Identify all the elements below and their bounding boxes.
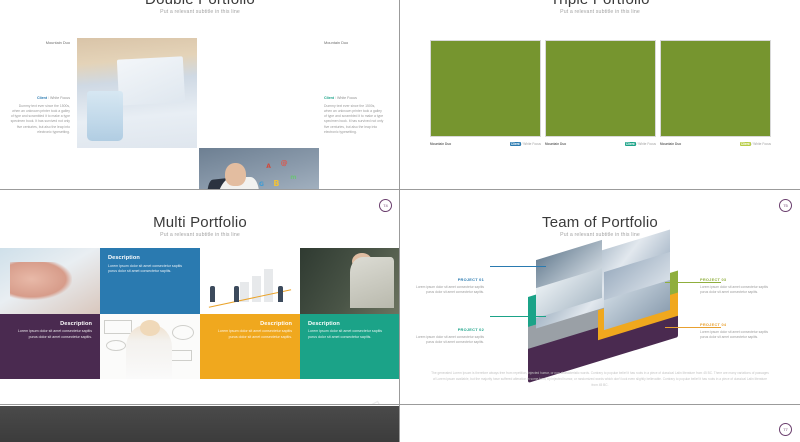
client-line: Client / White Focus bbox=[10, 96, 70, 102]
tile-text-wrap: Description Lorem ipsum dolor sit amet c… bbox=[100, 248, 200, 314]
project-label: PROJECT 03 bbox=[700, 277, 774, 283]
project-body: Lorem ipsum dolor sit amet consectetur s… bbox=[410, 335, 484, 346]
page-number-badge: 77 bbox=[779, 423, 792, 436]
portfolio-box-1[interactable] bbox=[430, 40, 541, 137]
page-subtitle: Put a relevant subtitle in this line bbox=[0, 9, 400, 15]
project-callout-04: PROJECT 04 Lorem ipsum dolor sit amet co… bbox=[700, 322, 774, 340]
bottom-dark-bar bbox=[0, 406, 399, 442]
caption-right-mountain-wrap: Mountain Duo bbox=[324, 40, 384, 46]
tile-body: Lorem ipsum dolor sit amet consectetur s… bbox=[108, 264, 192, 276]
tile-body: Lorem ipsum dolor sit amet consectetur s… bbox=[8, 329, 92, 341]
page-subtitle: Put a relevant subtitle in this line bbox=[0, 232, 400, 238]
letter-glyph: G bbox=[259, 181, 264, 188]
project-callout-03: PROJECT 03 Lorem ipsum dolor sit amet co… bbox=[700, 277, 774, 295]
caption-left-mountain-wrap: Mountain Duo bbox=[10, 40, 70, 46]
portfolio-image-man[interactable]: A @ G B m G O c bbox=[199, 148, 319, 190]
divider-horizontal-2 bbox=[0, 404, 800, 405]
tile-heading: Description bbox=[208, 321, 292, 327]
tile-heading: Description bbox=[8, 321, 92, 327]
slide-triple-portfolio[interactable]: Triple Portfolio Put a relevant subtitle… bbox=[400, 0, 800, 190]
caption-body: Dummy text ever since the 1500s, when an… bbox=[10, 104, 70, 136]
team-heading: Team of Portfolio Put a relevant subtitl… bbox=[400, 214, 800, 238]
page-title: Triple Portfolio bbox=[400, 0, 800, 8]
tile-text-blue[interactable]: Description Lorem ipsum dolor sit amet c… bbox=[100, 248, 200, 314]
caption-right: Client / White Focus Dummy text ever sin… bbox=[324, 96, 384, 135]
client-value: White Focus bbox=[337, 96, 357, 100]
client-line: Client / White Focus bbox=[510, 142, 541, 146]
man-at-desk-photo bbox=[300, 248, 400, 314]
project-label: PROJECT 02 bbox=[410, 327, 484, 333]
caption-left: Client / White Focus Dummy text ever sin… bbox=[10, 96, 70, 135]
page-title: Multi Portfolio bbox=[0, 214, 400, 231]
project-callout-02: PROJECT 02 Lorem ipsum dolor sit amet co… bbox=[410, 327, 484, 345]
tile-text-wrap: Description Lorem ipsum dolor sit amet c… bbox=[300, 314, 400, 380]
tile-text-wrap: Description Lorem ipsum dolor sit amet c… bbox=[200, 314, 300, 380]
letter-glyph: m bbox=[290, 174, 296, 181]
team-footer-paragraph: The generated Lorem Ipsum is therefore a… bbox=[430, 371, 770, 389]
bottom-strip-right: 77 bbox=[400, 405, 800, 442]
applauding-hands-photo bbox=[0, 248, 100, 314]
client-value: White Focus bbox=[638, 142, 656, 146]
tile-text-teal[interactable]: Description Lorem ipsum dolor sit amet c… bbox=[300, 314, 400, 380]
client-label: Client bbox=[740, 142, 751, 146]
sketch-shape bbox=[106, 340, 126, 351]
page-number-badge: 75 bbox=[779, 199, 792, 212]
client-label: Client bbox=[625, 142, 636, 146]
double-portfolio-body: Mountain Duo Client / White Focus Dummy … bbox=[0, 38, 400, 148]
triple-caption-3: Mountain Duo Client / White Focus bbox=[660, 142, 771, 146]
isometric-stack bbox=[520, 240, 690, 370]
project-body: Lorem ipsum dolor sit amet consectetur s… bbox=[700, 330, 774, 341]
project-body: Lorem ipsum dolor sit amet consectetur s… bbox=[700, 285, 774, 296]
page-title: Double Portfolio bbox=[0, 0, 400, 8]
double-heading: Double Portfolio Put a relevant subtitle… bbox=[0, 0, 400, 15]
divider-horizontal bbox=[0, 189, 800, 190]
tile-photo-hands[interactable] bbox=[0, 248, 100, 314]
client-separator: / bbox=[48, 96, 49, 100]
triple-image-row bbox=[430, 40, 771, 137]
client-label: Client bbox=[510, 142, 521, 146]
page-subtitle: Put a relevant subtitle in this line bbox=[400, 232, 800, 238]
tile-text-orange[interactable]: Description Lorem ipsum dolor sit amet c… bbox=[200, 314, 300, 380]
triple-caption-1: Mountain Duo Client / White Focus bbox=[430, 142, 541, 146]
project-body: Lorem ipsum dolor sit amet consectetur s… bbox=[410, 285, 484, 296]
chart-bar bbox=[264, 269, 273, 302]
client-separator: / bbox=[335, 96, 336, 100]
tile-heading: Description bbox=[308, 321, 392, 327]
tile-body: Lorem ipsum dolor sit amet consectetur s… bbox=[208, 329, 292, 341]
sketch-shape bbox=[172, 325, 194, 340]
caption-body: Dummy text ever since the 1500s, when an… bbox=[324, 104, 384, 136]
person-silhouette bbox=[210, 286, 215, 302]
triple-caption-2: Mountain Duo Client / White Focus bbox=[545, 142, 656, 146]
mountain-label: Mountain Duo bbox=[545, 142, 566, 146]
client-value: White Focus bbox=[50, 96, 70, 100]
triple-heading: Triple Portfolio Put a relevant subtitle… bbox=[400, 0, 800, 15]
tile-body: Lorem ipsum dolor sit amet consectetur s… bbox=[308, 329, 392, 341]
client-value: White Focus bbox=[753, 142, 771, 146]
portfolio-box-3[interactable] bbox=[660, 40, 771, 137]
slide-double-portfolio[interactable]: Double Portfolio Put a relevant subtitle… bbox=[0, 0, 400, 190]
client-line: Client / White Focus bbox=[324, 96, 384, 102]
tile-text-wrap: Description Lorem ipsum dolor sit amet c… bbox=[0, 314, 100, 380]
letter-glyph: B bbox=[273, 179, 279, 188]
multi-heading: Multi Portfolio Put a relevant subtitle … bbox=[0, 214, 400, 238]
head-shape bbox=[225, 163, 245, 186]
connector-project-01 bbox=[490, 266, 546, 267]
project-label: PROJECT 04 bbox=[700, 322, 774, 328]
page-number-badge: 74 bbox=[379, 199, 392, 212]
mountain-label: Mountain Duo bbox=[430, 142, 451, 146]
person-silhouette bbox=[278, 286, 283, 302]
client-line: Client / White Focus bbox=[625, 142, 656, 146]
tile-photo-dark-desk[interactable] bbox=[300, 248, 400, 314]
page-subtitle: Put a relevant subtitle in this line bbox=[400, 9, 800, 15]
client-label: Client bbox=[324, 96, 334, 100]
divider-vertical bbox=[399, 0, 400, 442]
head-shape bbox=[140, 320, 160, 336]
connector-project-02 bbox=[490, 316, 546, 317]
mountain-label: Mountain Duo bbox=[660, 142, 681, 146]
tile-text-purple[interactable]: Description Lorem ipsum dolor sit amet c… bbox=[0, 314, 100, 380]
portfolio-image-desk[interactable] bbox=[77, 38, 197, 148]
portfolio-box-2[interactable] bbox=[545, 40, 656, 137]
business-growth-chart-photo bbox=[200, 248, 300, 314]
mountain-label: Mountain Duo bbox=[324, 40, 384, 46]
person-silhouette bbox=[234, 286, 239, 302]
triple-caption-row: Mountain Duo Client / White Focus Mounta… bbox=[430, 142, 771, 146]
project-callout-01: PROJECT 01 Lorem ipsum dolor sit amet co… bbox=[410, 277, 484, 295]
tile-photo-chart[interactable] bbox=[200, 248, 300, 314]
mountain-label: Mountain Duo bbox=[10, 40, 70, 46]
page-title: Team of Portfolio bbox=[400, 214, 800, 231]
tile-photo-sketch[interactable] bbox=[100, 314, 200, 380]
letter-glyph: A bbox=[266, 163, 271, 170]
letter-glyph: @ bbox=[281, 159, 288, 167]
client-value: White Focus bbox=[523, 142, 541, 146]
client-line: Client / White Focus bbox=[740, 142, 771, 146]
client-label: Client bbox=[37, 96, 47, 100]
project-label: PROJECT 01 bbox=[410, 277, 484, 283]
sketch-shape bbox=[104, 320, 132, 334]
woman-with-sketches-photo bbox=[100, 314, 200, 380]
tile-heading: Description bbox=[108, 255, 192, 261]
